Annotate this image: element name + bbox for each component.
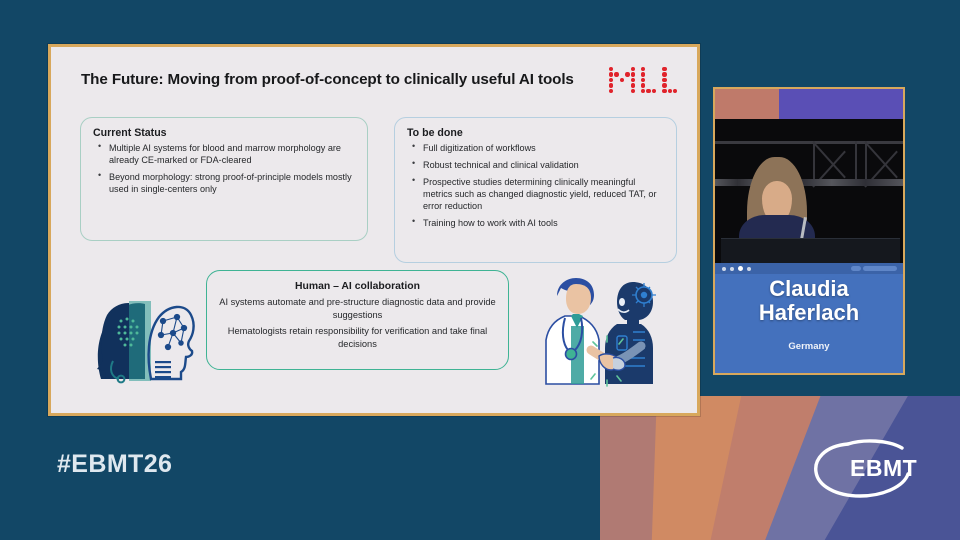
truss-light-bar: [715, 179, 903, 186]
list-item: Prospective studies determining clinical…: [423, 176, 666, 212]
mll-logo: [609, 67, 679, 95]
list-item: Multiple AI systems for blood and marrow…: [109, 142, 357, 166]
ebmt-logo: EBMT: [812, 436, 936, 502]
card-human-ai-collaboration: Human – AI collaboration AI systems auto…: [206, 270, 509, 370]
card-to-be-done-heading: To be done: [407, 127, 676, 139]
card-current-status: Current Status Multiple AI systems for b…: [80, 117, 368, 241]
list-item: Full digitization of workflows: [423, 142, 666, 154]
card-collaboration-heading: Human – AI collaboration: [207, 281, 508, 292]
stage-video-feed: [715, 119, 903, 263]
podium: [721, 238, 900, 263]
human-ai-head-profiles-icon: [89, 275, 199, 385]
video-top-banner: [715, 89, 903, 119]
card-to-be-done-bullets: Full digitization of workflows Robust te…: [395, 142, 676, 230]
speaker-video-panel[interactable]: Claudia Haferlach Germany: [713, 87, 905, 375]
doctor-robot-handshake-icon: [521, 262, 673, 390]
card-collaboration-line: AI systems automate and pre-structure di…: [219, 296, 496, 321]
slide-title: The Future: Moving from proof-of-concept…: [81, 71, 621, 88]
speaker-country: Germany: [715, 341, 903, 352]
caption-chrome-chip[interactable]: [851, 266, 861, 271]
speaker-name-line2: Haferlach: [715, 301, 903, 325]
event-hashtag: #EBMT26: [57, 450, 172, 479]
card-collaboration-line: Hematologists retain responsibility for …: [219, 325, 496, 350]
banner-purple-block: [779, 89, 903, 119]
banner-orange-block: [715, 89, 779, 119]
card-to-be-done: To be done Full digitization of workflow…: [394, 117, 677, 263]
broadcast-frame: The Future: Moving from proof-of-concept…: [0, 0, 960, 540]
window-dot-icon[interactable]: [747, 267, 751, 271]
window-dot-icon[interactable]: [730, 267, 734, 271]
window-dot-active-icon[interactable]: [738, 266, 743, 271]
list-item: Training how to work with AI tools: [423, 217, 666, 229]
speaker-caption-bar: Claudia Haferlach Germany: [715, 263, 903, 373]
presentation-slide: The Future: Moving from proof-of-concept…: [48, 44, 700, 416]
list-item: Robust technical and clinical validation: [423, 159, 666, 171]
list-item: Beyond morphology: strong proof-of-princ…: [109, 171, 357, 195]
caption-chrome-chip[interactable]: [863, 266, 897, 271]
speaker-name: Claudia Haferlach: [715, 277, 903, 325]
card-current-status-bullets: Multiple AI systems for blood and marrow…: [81, 142, 367, 195]
card-current-status-heading: Current Status: [93, 127, 367, 139]
caption-chrome-bar: [715, 263, 903, 274]
ebmt-logo-text: EBMT: [850, 455, 917, 482]
window-dot-icon[interactable]: [722, 267, 726, 271]
speaker-name-line1: Claudia: [715, 277, 903, 301]
